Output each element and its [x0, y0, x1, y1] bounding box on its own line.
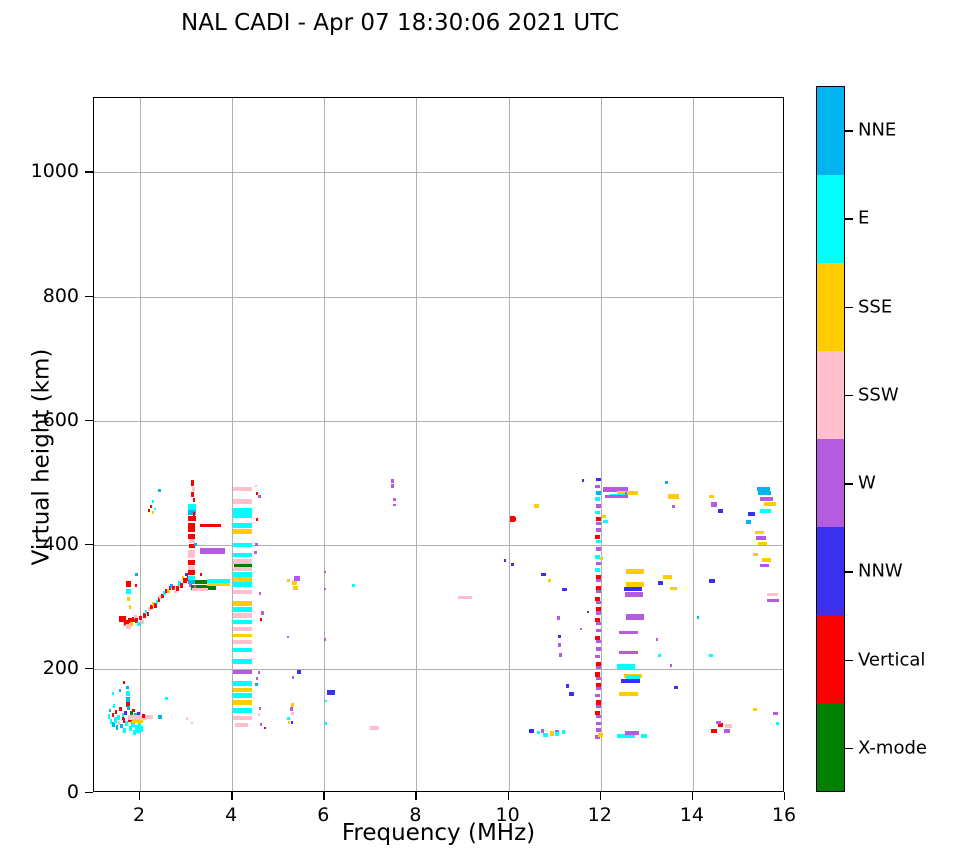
data-mark-e: [233, 553, 252, 557]
data-mark-w: [393, 504, 395, 506]
grid-line-horizontal: [94, 421, 783, 422]
data-mark-nne: [158, 489, 160, 492]
grid-line-vertical: [509, 98, 510, 791]
colorbar-label-nnw: NNW: [858, 561, 903, 582]
data-mark-ssw: [186, 717, 188, 719]
data-mark-e: [137, 622, 140, 626]
colorbar-tick: [845, 130, 853, 131]
data-mark-w: [767, 599, 779, 603]
data-mark-nne: [120, 724, 122, 729]
data-mark-e: [595, 511, 600, 515]
data-mark-vertical: [148, 509, 150, 511]
data-mark-nnw: [587, 611, 589, 613]
data-mark-w: [711, 502, 717, 507]
data-mark-nnw: [291, 721, 293, 724]
y-tick: [85, 171, 93, 172]
data-mark-ssw: [141, 620, 144, 624]
data-mark-sse: [233, 688, 252, 692]
colorbar-label-w: W: [858, 473, 876, 494]
data-mark-w: [595, 694, 600, 698]
y-tick-label: 0: [67, 781, 79, 803]
data-mark-e: [562, 730, 566, 734]
data-mark-ssw: [192, 487, 195, 491]
data-mark-e: [658, 654, 661, 657]
data-mark-sse: [663, 575, 672, 579]
data-mark-sse: [598, 733, 603, 737]
data-mark-w: [596, 677, 601, 680]
data-mark-nnw: [541, 573, 547, 577]
data-mark-e: [207, 579, 230, 583]
data-mark-w: [596, 547, 601, 551]
data-mark-sse: [668, 494, 680, 498]
grid-line-horizontal: [94, 545, 783, 546]
colorbar-label-ssw: SSW: [858, 384, 899, 405]
data-mark-e: [233, 508, 252, 513]
data-mark-vertical: [264, 727, 266, 729]
data-mark-e: [325, 722, 327, 725]
data-mark-e: [325, 700, 327, 702]
colorbar-tick: [845, 571, 853, 572]
data-mark-w: [259, 707, 261, 710]
data-mark-vertical: [188, 570, 195, 575]
data-mark-w: [596, 562, 601, 566]
grid-line-horizontal: [94, 172, 783, 173]
data-mark-vertical: [191, 480, 195, 486]
data-mark-vertical: [200, 573, 202, 576]
data-mark-w: [324, 571, 326, 573]
data-mark-w: [541, 729, 544, 733]
data-mark-vertical: [122, 717, 125, 721]
data-mark-e: [233, 681, 252, 686]
data-mark-nne: [112, 722, 114, 727]
data-mark-e: [555, 732, 559, 736]
data-mark-e: [233, 513, 252, 517]
x-tick: [692, 792, 693, 800]
data-mark-sse: [127, 597, 130, 601]
colorbar-segment-x-mode: [817, 703, 844, 791]
data-mark-vertical: [260, 618, 262, 621]
data-mark-w: [233, 670, 252, 674]
data-mark-nnw: [511, 563, 514, 566]
data-mark-e: [113, 704, 115, 708]
data-mark-w: [324, 638, 326, 640]
data-mark-e: [117, 715, 120, 721]
x-tick: [139, 792, 140, 800]
colorbar-label-vertical: Vertical: [858, 649, 925, 670]
data-mark-e: [126, 691, 130, 697]
data-mark-e: [543, 733, 548, 737]
y-tick: [85, 544, 93, 545]
data-mark-nnw: [569, 692, 574, 696]
data-mark-ssw: [188, 550, 195, 559]
colorbar-segment-vertical: [817, 615, 844, 703]
data-mark-e: [537, 731, 540, 734]
colorbar-label-x-mode: X-mode: [858, 737, 927, 758]
colorbar-tick: [845, 660, 853, 661]
data-mark-nnw: [596, 478, 601, 482]
data-mark-ssw: [255, 485, 257, 487]
data-mark-w: [760, 497, 773, 501]
data-mark-vertical: [188, 560, 195, 565]
data-mark-nnw: [124, 711, 126, 715]
data-mark-e: [603, 520, 608, 523]
grid-line-vertical: [140, 98, 141, 791]
plot-area: [93, 97, 784, 792]
data-mark-sse: [130, 622, 133, 626]
data-mark-w: [596, 629, 601, 633]
data-mark-nne: [596, 491, 601, 495]
data-mark-nnw: [624, 587, 642, 591]
y-tick: [85, 668, 93, 669]
data-mark-w: [292, 676, 294, 678]
colorbar-tick: [845, 748, 853, 749]
data-mark-nne: [126, 686, 129, 690]
data-mark-e: [233, 523, 252, 528]
data-mark-sse: [287, 579, 289, 582]
data-mark-vertical: [188, 523, 194, 532]
data-mark-vertical: [154, 603, 157, 607]
data-mark-nne: [127, 706, 130, 710]
grid-line-vertical: [416, 98, 417, 791]
data-mark-sse: [132, 720, 144, 723]
data-mark-sse: [129, 605, 131, 609]
data-mark-w: [596, 728, 601, 732]
x-tick: [600, 792, 601, 800]
data-mark-sse: [755, 531, 764, 535]
data-mark-nnw: [709, 579, 715, 583]
data-mark-w: [294, 576, 300, 581]
y-tick: [85, 792, 93, 793]
colorbar-labels: NNEESSESSWWNNWVerticalX-mode: [845, 86, 955, 792]
data-mark-sse: [753, 708, 758, 711]
data-mark-w: [287, 636, 289, 638]
data-mark-w: [773, 712, 778, 716]
data-mark-w: [596, 590, 601, 593]
data-mark-ssw: [139, 715, 153, 719]
data-mark-nnw: [529, 729, 534, 733]
data-mark-e: [760, 509, 772, 513]
data-mark-sse: [626, 569, 644, 573]
data-mark-sse: [292, 581, 297, 585]
data-mark-e: [165, 697, 167, 700]
data-mark-nne: [116, 725, 118, 730]
data-mark-e: [233, 693, 252, 698]
data-mark-w: [596, 601, 601, 604]
data-mark-nne: [158, 715, 161, 719]
data-mark-w: [619, 651, 637, 654]
x-tick: [323, 792, 324, 800]
data-mark-ssw: [233, 640, 252, 644]
data-mark-vertical: [188, 534, 194, 539]
data-mark-sse: [619, 692, 637, 696]
data-mark-vertical: [119, 707, 121, 711]
data-mark-w: [595, 485, 600, 489]
data-mark-e: [154, 508, 156, 510]
x-tick: [415, 792, 416, 800]
y-tick: [85, 420, 93, 421]
data-mark-nnw: [558, 635, 561, 639]
data-mark-e: [152, 500, 154, 502]
data-mark-nnw: [674, 686, 677, 689]
data-mark-vertical: [143, 613, 146, 617]
data-mark-e: [595, 568, 600, 572]
data-mark-ssw: [258, 713, 260, 716]
data-mark-vertical: [200, 524, 221, 528]
data-mark-w: [596, 666, 601, 669]
data-mark-w: [596, 705, 601, 708]
data-mark-e: [617, 664, 635, 668]
data-mark-e: [233, 659, 252, 664]
data-mark-sse: [709, 495, 714, 499]
data-mark-w: [670, 664, 672, 667]
data-mark-nne: [625, 492, 628, 495]
data-mark-vertical: [147, 612, 150, 616]
data-mark-vertical: [711, 729, 717, 733]
data-mark-e: [123, 728, 125, 733]
data-mark-w: [596, 687, 601, 690]
data-mark-e: [709, 654, 713, 657]
data-mark-e: [596, 540, 601, 543]
colorbar-tick: [845, 395, 853, 396]
colorbar-segment-nnw: [817, 527, 844, 615]
data-mark-sse: [753, 553, 759, 556]
data-mark-e: [233, 648, 252, 652]
data-mark-w: [619, 631, 637, 634]
data-mark-e: [233, 607, 252, 612]
colorbar-title: Azimuth Direction: [954, 97, 958, 803]
data-mark-e: [352, 584, 355, 587]
data-mark-w: [596, 522, 601, 525]
data-mark-nnw: [582, 479, 584, 482]
data-mark-sse: [233, 601, 252, 606]
data-mark-sse: [548, 579, 551, 582]
colorbar-segment-w: [817, 439, 844, 527]
data-mark-w: [256, 677, 258, 680]
data-mark-ssw: [233, 613, 252, 617]
data-mark-sse: [152, 511, 154, 513]
data-mark-ssw: [767, 593, 779, 597]
data-mark-e: [233, 620, 252, 624]
y-tick: [85, 296, 93, 297]
colorbar-segment-sse: [817, 263, 844, 351]
data-mark-w: [324, 588, 326, 590]
data-mark-e: [140, 726, 143, 732]
data-mark-w: [756, 536, 765, 539]
data-mark-e: [233, 543, 252, 547]
data-mark-w: [258, 671, 260, 674]
data-mark-w: [596, 722, 601, 726]
data-mark-nnw: [504, 559, 506, 561]
data-mark-sse: [534, 504, 540, 508]
data-mark-e: [287, 717, 289, 720]
data-mark-w: [672, 505, 675, 508]
data-mark-ssw: [233, 567, 252, 571]
data-mark-w: [258, 495, 261, 499]
data-mark-w: [290, 707, 293, 711]
data-mark-e: [595, 497, 600, 501]
grid-line-vertical: [324, 98, 325, 791]
data-mark-vertical: [191, 492, 194, 497]
y-axis-label: Virtual height (km): [29, 110, 55, 805]
x-tick: [508, 792, 509, 800]
data-mark-w: [557, 616, 560, 620]
data-mark-w: [656, 638, 658, 641]
data-mark-nne: [119, 689, 121, 691]
data-mark-sse: [291, 703, 294, 707]
data-mark-sse: [600, 557, 603, 560]
data-mark-w: [596, 715, 601, 718]
data-mark-vertical: [193, 498, 196, 502]
colorbar-tick: [845, 307, 853, 308]
grid-line-vertical: [693, 98, 694, 791]
colorbar-segment-nne: [817, 87, 844, 175]
data-mark-vertical: [514, 517, 516, 521]
data-mark-ssw: [291, 712, 294, 716]
data-mark-nnw: [327, 690, 335, 694]
colorbar-label-nne: NNE: [858, 120, 896, 141]
data-mark-nne: [135, 573, 137, 576]
data-mark-nnw: [658, 581, 663, 585]
data-mark-w: [391, 484, 394, 488]
data-mark-ssw: [233, 590, 252, 594]
data-mark-nnw: [562, 588, 568, 592]
data-mark-sse: [550, 731, 554, 735]
page-title: NAL CADI - Apr 07 18:30:06 2021 UTC: [0, 10, 800, 36]
data-mark-ssw: [233, 627, 252, 631]
x-axis-label: Frequency (MHz): [93, 820, 784, 846]
data-mark-nnw: [718, 509, 723, 513]
colorbar-label-sse: SSE: [858, 296, 892, 317]
data-mark-e: [233, 708, 252, 713]
data-mark-w: [596, 622, 601, 625]
data-mark-w: [558, 643, 561, 647]
data-mark-w: [259, 592, 261, 595]
data-mark-w: [716, 721, 721, 724]
data-mark-w: [194, 585, 196, 589]
data-mark-e: [233, 582, 252, 587]
data-mark-sse: [233, 634, 252, 638]
grid-line-horizontal: [94, 669, 783, 670]
data-mark-e: [112, 692, 114, 694]
colorbar-label-e: E: [858, 208, 869, 229]
colorbar-tick: [845, 218, 853, 219]
data-mark-ssw: [191, 722, 193, 724]
data-mark-ssw: [233, 487, 252, 491]
data-mark-w: [596, 611, 601, 614]
data-mark-w: [580, 628, 582, 630]
data-mark-nnw: [748, 512, 755, 516]
data-mark-w: [596, 647, 601, 651]
data-mark-vertical: [256, 518, 258, 521]
data-mark-w: [596, 504, 601, 508]
data-mark-vertical: [132, 709, 135, 713]
data-mark-sse: [758, 542, 767, 546]
data-mark-sse: [762, 558, 771, 562]
data-mark-w: [625, 592, 643, 596]
data-mark-vertical: [150, 505, 152, 508]
data-mark-w: [595, 655, 600, 659]
data-mark-sse: [233, 700, 252, 704]
data-mark-ssw: [235, 723, 249, 727]
grid-line-horizontal: [94, 297, 783, 298]
data-mark-sse: [233, 529, 252, 534]
data-mark-nnw: [566, 684, 569, 688]
data-mark-sse: [293, 586, 298, 590]
data-mark-e: [776, 722, 780, 725]
data-mark-vertical: [142, 714, 145, 718]
data-mark-ssw: [725, 724, 732, 727]
data-mark-ssw: [233, 499, 252, 503]
colorbar: [816, 86, 845, 792]
data-mark-w: [393, 498, 396, 501]
data-mark-e: [126, 589, 131, 595]
data-mark-w: [596, 579, 601, 582]
data-mark-nne: [665, 481, 668, 484]
ionogram-figure: NAL CADI - Apr 07 18:30:06 2021 UTC 0200…: [0, 0, 958, 857]
data-mark-ssw: [458, 596, 472, 600]
data-mark-vertical: [193, 512, 196, 516]
data-canvas: [94, 98, 783, 791]
data-mark-sse: [670, 587, 677, 590]
data-mark-w: [260, 723, 262, 726]
colorbar-segment-e: [817, 175, 844, 263]
x-tick: [784, 792, 785, 800]
data-mark-w: [559, 653, 562, 657]
data-mark-nne: [758, 491, 771, 495]
data-mark-nnw: [297, 670, 302, 674]
data-mark-w: [255, 543, 257, 546]
data-mark-vertical: [180, 583, 183, 588]
data-mark-w: [200, 548, 225, 554]
data-mark-w: [391, 479, 394, 483]
data-mark-sse: [602, 515, 607, 518]
data-mark-vertical: [135, 584, 137, 587]
grid-line-vertical: [601, 98, 602, 791]
data-mark-sse: [288, 721, 290, 724]
x-tick: [231, 792, 232, 800]
data-mark-vertical: [188, 516, 195, 521]
data-mark-ssw: [233, 716, 252, 720]
data-mark-nnw: [621, 679, 639, 683]
data-mark-nne: [697, 616, 699, 618]
data-mark-e: [626, 675, 640, 678]
data-mark-w: [254, 551, 256, 554]
data-mark-w: [596, 640, 601, 643]
data-mark-nne: [194, 543, 196, 546]
data-mark-e: [641, 734, 647, 738]
data-mark-vertical: [126, 581, 131, 587]
data-mark-sse: [207, 583, 230, 587]
data-mark-w: [626, 614, 644, 620]
colorbar-tick: [845, 483, 853, 484]
data-mark-w: [724, 729, 730, 733]
data-mark-ssw: [370, 726, 378, 730]
data-mark-vertical: [123, 681, 125, 684]
data-mark-nne: [746, 520, 752, 524]
data-mark-sse: [764, 502, 776, 506]
data-mark-w: [261, 611, 264, 615]
data-mark-w: [625, 731, 639, 735]
data-mark-w: [605, 495, 628, 499]
colorbar-segment-ssw: [817, 351, 844, 439]
data-mark-w: [760, 564, 769, 567]
data-mark-nne: [255, 683, 257, 686]
data-mark-w: [596, 528, 601, 532]
